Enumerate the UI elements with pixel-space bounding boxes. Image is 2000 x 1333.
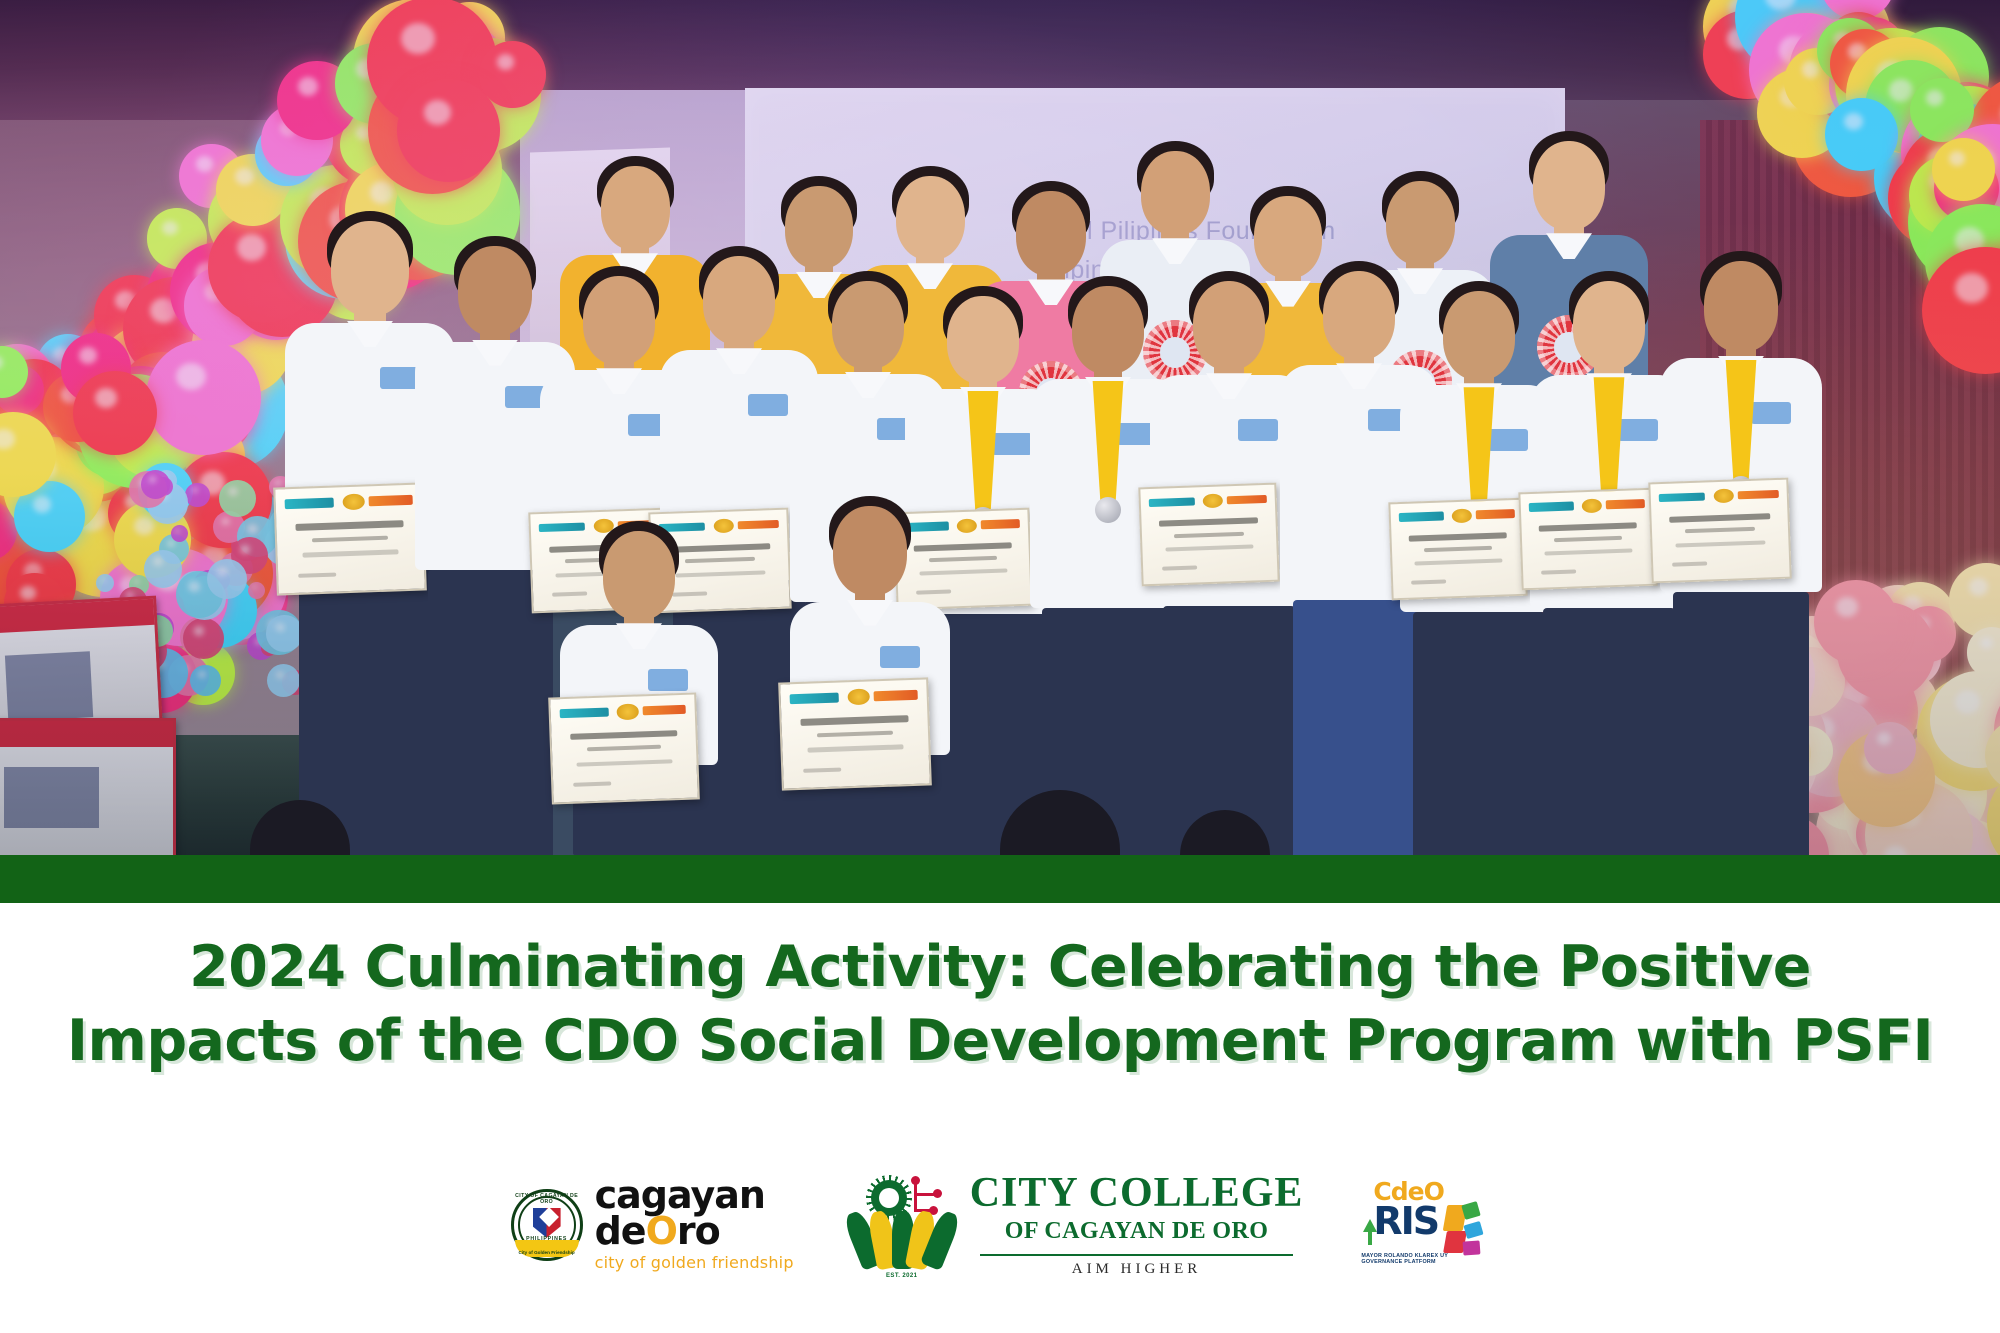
certificate-band-left	[284, 498, 334, 509]
decorative-flower	[207, 559, 247, 599]
person	[790, 500, 950, 855]
city-college-name-line-2: OF CAGAYAN DE ORO	[970, 1214, 1304, 1249]
face	[1016, 191, 1086, 276]
certificate-seal-icon	[956, 518, 976, 533]
face	[1141, 151, 1210, 235]
certificate-seal-icon	[1581, 498, 1601, 513]
person	[560, 525, 718, 855]
certificate-of-completion	[1138, 483, 1279, 587]
certificate-seal-icon	[1451, 508, 1471, 523]
person	[1660, 255, 1822, 855]
face	[458, 246, 532, 336]
legs-trousers	[1673, 592, 1809, 855]
balloon	[1932, 138, 1994, 200]
certificate-band-right	[980, 519, 1020, 529]
divider-rule	[980, 1254, 1294, 1256]
legs-trousers	[1543, 608, 1676, 855]
city-college-motto: AIM HIGHER	[970, 1261, 1304, 1278]
logo-cdeo-rise: CdeO RIS MAYOR ROLANDO KLAREX UY GOVERNA…	[1359, 1179, 1489, 1271]
certificate-seal-icon	[1202, 493, 1223, 508]
balloon	[73, 371, 157, 455]
face	[603, 531, 676, 620]
cagayan-de-oro-wordmark: cagayan deOro city of golden friendship	[595, 1178, 794, 1272]
seal-top-text: CITY OF CAGAYAN DE ORO	[511, 1193, 583, 1205]
certificate-body-line	[577, 759, 672, 766]
certificate-name-line	[1174, 532, 1244, 538]
face	[896, 176, 965, 260]
cdo-tagline: city of golden friendship	[595, 1253, 794, 1272]
box-label-strip	[0, 599, 154, 634]
city-college-emblem-icon: EST. 2021	[850, 1175, 954, 1275]
photo-scene: Shell Pilipinas Foundation Pilipinas	[0, 0, 2000, 855]
certificate-band-left	[1659, 492, 1706, 502]
certificate-band-left	[789, 693, 839, 704]
certificate-band-right	[1226, 494, 1266, 504]
balloon	[397, 79, 500, 182]
certificate-of-completion	[1518, 488, 1657, 591]
box-product-image	[4, 767, 100, 829]
title-block: 2024 Culminating Activity: Celebrating t…	[0, 930, 2000, 1078]
certificate-signature-line	[1412, 579, 1446, 584]
certificate-body-line	[807, 745, 903, 753]
seal-ribbon-text: City of Golden Friendship	[511, 1250, 583, 1255]
page-title-line-1: 2024 Culminating Activity: Celebrating t…	[0, 930, 2000, 1004]
certificate-band-right	[874, 690, 918, 701]
decorative-flower	[185, 483, 209, 507]
certificate-name-line	[1554, 536, 1623, 542]
balloon	[1814, 580, 1898, 664]
certificate-name-line	[1685, 527, 1756, 533]
certificate-body-line	[302, 550, 398, 558]
certificate-of-completion	[548, 692, 700, 804]
face	[947, 296, 1019, 384]
certificate-body-line	[1415, 559, 1502, 566]
cdo-word-ro: ro	[677, 1209, 720, 1253]
cdo-word-o: O	[646, 1209, 677, 1253]
certificate-name-line	[586, 745, 661, 752]
certificate-band-right	[1605, 499, 1645, 509]
certificate-name-line	[817, 731, 893, 738]
face	[833, 506, 907, 596]
certificate-of-completion	[778, 677, 932, 790]
box-product-image	[5, 651, 94, 722]
city-college-name-line-1: CITY COLLEGE	[970, 1172, 1304, 1214]
cagayan-de-oro-seal-icon: CITY OF CAGAYAN DE ORO PHILIPPINES City …	[511, 1189, 583, 1261]
face	[1323, 271, 1396, 360]
green-divider-band	[0, 855, 2000, 903]
poster-page: Shell Pilipinas Foundation Pilipinas	[0, 0, 2000, 1333]
shirt-logo	[1238, 419, 1278, 441]
certificate-signature-line	[1542, 569, 1576, 574]
shirt-logo	[992, 433, 1032, 455]
city-college-established-text: EST. 2021	[850, 1273, 954, 1279]
face	[1704, 261, 1779, 352]
certificate-seal-icon	[848, 689, 870, 705]
face	[1573, 281, 1646, 370]
certificate-band-right	[1738, 490, 1779, 500]
certificate-body-line	[1676, 540, 1766, 547]
certificate-signature-line	[299, 573, 337, 578]
balloon	[479, 41, 546, 108]
certificate-name-line	[312, 536, 388, 543]
certificate-band-left	[559, 708, 608, 719]
shirt-logo	[880, 646, 920, 668]
circuit-node-icon	[933, 1189, 942, 1198]
face	[1072, 286, 1144, 374]
logo-city-college: EST. 2021 CITY COLLEGE OF CAGAYAN DE ORO…	[850, 1172, 1304, 1279]
certificate-title-text	[1409, 532, 1507, 541]
certificate-band-left	[1399, 512, 1444, 522]
shirt-logo	[648, 669, 688, 691]
cdeo-rise-tagline: MAYOR ROLANDO KLAREX UY GOVERNANCE PLATF…	[1361, 1253, 1487, 1265]
certificate-band-right	[643, 705, 686, 716]
certificate-of-completion	[1388, 498, 1527, 601]
cdo-word-line-2: deOro	[595, 1213, 794, 1250]
open-book-icon	[850, 1207, 954, 1269]
certificate-title-text	[1159, 518, 1258, 527]
certificate-title-text	[570, 730, 677, 740]
shirt-logo	[1618, 419, 1658, 441]
medal-coin	[1095, 497, 1121, 523]
cdo-word-de: de	[595, 1209, 646, 1253]
certificate-signature-line	[1672, 562, 1707, 567]
face	[1386, 181, 1455, 265]
certificate-title-text	[800, 715, 908, 725]
partner-logo-row: CITY OF CAGAYAN DE ORO PHILIPPINES City …	[0, 1165, 2000, 1285]
certificate-title-text	[1539, 522, 1637, 531]
decorative-flower	[190, 665, 221, 696]
certificate-title-text	[1669, 513, 1770, 522]
shirt-logo	[505, 386, 545, 408]
face	[703, 256, 776, 345]
legs-trousers	[1413, 612, 1546, 855]
shirt-logo	[1751, 402, 1791, 424]
balloon	[1825, 98, 1897, 170]
event-photo-banner: Shell Pilipinas Foundation Pilipinas	[0, 0, 2000, 855]
shirt-logo	[1488, 429, 1528, 451]
certificate-seal-icon	[1713, 488, 1734, 503]
certificate-name-line	[1424, 546, 1493, 552]
certificate-of-completion	[1648, 478, 1791, 584]
box-label-strip	[0, 721, 173, 747]
certificate-body-line	[1165, 545, 1254, 552]
certificate-band-left	[1149, 497, 1195, 507]
prize-box	[0, 718, 176, 855]
certificate-band-right	[738, 520, 779, 530]
certificate-of-completion	[273, 482, 427, 595]
up-arrow-stem-icon	[1368, 1231, 1372, 1245]
certificate-body-line	[1545, 549, 1632, 556]
face	[601, 166, 670, 250]
cdo-word-line-1: cagayan	[595, 1178, 794, 1213]
certificate-band-right	[369, 495, 413, 506]
certificate-signature-line	[804, 768, 842, 773]
certificate-seal-icon	[617, 704, 639, 720]
certificate-signature-line	[573, 782, 611, 787]
certificate-band-right	[1475, 509, 1515, 519]
page-title-line-2: Impacts of the CDO Social Development Pr…	[0, 1004, 2000, 1078]
certificate-band-left	[1529, 502, 1574, 512]
decorative-flower	[144, 550, 182, 588]
face	[832, 281, 904, 369]
logo-cagayan-de-oro: CITY OF CAGAYAN DE ORO PHILIPPINES City …	[511, 1178, 794, 1272]
cdeo-rise-mark: CdeO RIS MAYOR ROLANDO KLAREX UY GOVERNA…	[1359, 1179, 1489, 1271]
certificate-seal-icon	[343, 494, 365, 510]
city-college-wordmark: CITY COLLEGE OF CAGAYAN DE ORO AIM HIGHE…	[970, 1172, 1304, 1279]
certificate-title-text	[295, 520, 403, 530]
face	[1533, 141, 1606, 230]
shirt-logo	[748, 394, 788, 416]
face	[583, 276, 656, 365]
balloon	[146, 340, 261, 455]
face	[1193, 281, 1266, 370]
circuit-node-icon	[911, 1176, 920, 1185]
face	[331, 221, 409, 316]
face	[1443, 291, 1516, 380]
certificate-signature-line	[1162, 566, 1197, 571]
